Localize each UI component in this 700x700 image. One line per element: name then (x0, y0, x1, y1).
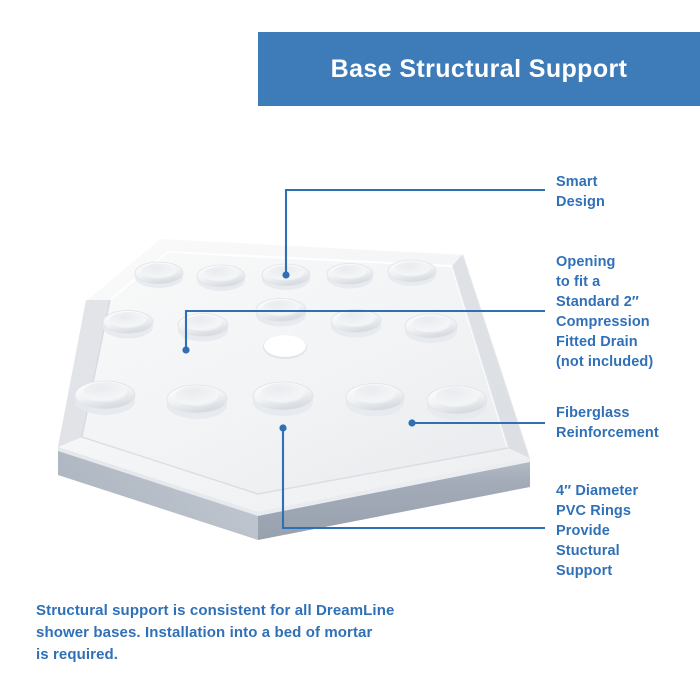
callout-pvc-rings: 4″ Diameter PVC Rings Provide Stuctural … (556, 481, 638, 581)
pvc-ring (331, 310, 381, 338)
pvc-ring (103, 311, 153, 339)
deck-floor (82, 252, 508, 494)
callout-smart-design: Smart Design (556, 172, 605, 212)
callout-fiberglass: Fiberglass Reinforcement (556, 403, 659, 443)
pvc-ring (262, 264, 310, 290)
deck-surface (58, 238, 530, 512)
rim-right-shade (452, 254, 530, 458)
header-banner: Base Structural Support (258, 32, 700, 106)
pvc-rings (75, 260, 487, 420)
leader-dots (182, 271, 415, 431)
base-front-highlight (258, 458, 530, 516)
pvc-ring (427, 386, 487, 420)
leader-dot-pvc-rings (279, 424, 286, 431)
leader-line-pvc-rings (283, 428, 545, 528)
pvc-ring (135, 262, 183, 288)
leader-dot-smart-design (282, 271, 289, 278)
pvc-ring (253, 382, 313, 416)
leader-dot-fiberglass (408, 419, 415, 426)
drain-opening (263, 335, 307, 359)
pvc-ring (346, 384, 404, 417)
pvc-ring (178, 314, 228, 342)
base-front-wall (258, 458, 530, 540)
pvc-ring (327, 264, 373, 289)
rim-left-shade (58, 300, 110, 447)
deck-floor-texture (82, 252, 508, 494)
pvc-ring (405, 314, 457, 343)
infographic-page: Base Structural Support (0, 0, 700, 700)
base-body (58, 447, 530, 540)
pvc-ring (388, 260, 436, 286)
pvc-ring (197, 265, 245, 291)
leader-lines (186, 190, 545, 528)
deck-outer-highlight (86, 238, 530, 458)
base-deck (58, 238, 530, 512)
page-title: Base Structural Support (331, 55, 628, 84)
leader-line-drain-opening (186, 311, 545, 350)
base-left-wall (58, 447, 258, 540)
rim-bevel-front (82, 300, 508, 494)
pvc-ring (75, 381, 135, 415)
pvc-ring (256, 299, 306, 327)
base-left-highlight (58, 447, 258, 516)
leader-dot-drain-opening (182, 346, 189, 353)
deck-texture (58, 238, 530, 512)
pvc-ring (167, 385, 227, 419)
footer-caption: Structural support is consistent for all… (36, 600, 506, 665)
rim-bevel-back (110, 252, 508, 448)
callout-drain-opening: Opening to fit a Standard 2″ Compression… (556, 252, 653, 372)
leader-line-smart-design (286, 190, 545, 275)
